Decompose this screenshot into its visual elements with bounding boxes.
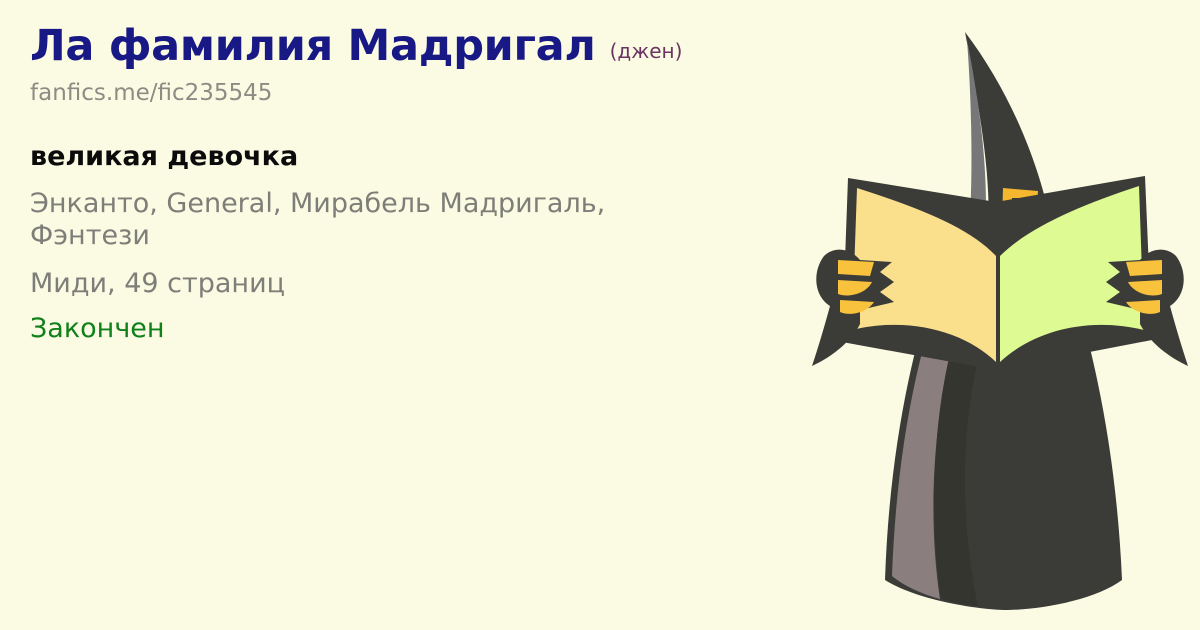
wizard-illustration-svg <box>800 10 1200 620</box>
fic-tags: Энканто, General, Мирабель Мадригаль, Фэ… <box>30 188 630 252</box>
book-spine <box>996 254 1000 364</box>
title-row: Ла фамилия Мадригал (джен) <box>30 24 820 69</box>
finger-right-1 <box>1126 260 1162 276</box>
fic-subtitle: великая девочка <box>30 141 820 172</box>
fic-size: Миди, 49 страниц <box>30 268 820 300</box>
status-badge: Закончен <box>30 313 820 345</box>
robe-group <box>885 340 1122 610</box>
fanfic-preview-card: Ла фамилия Мадригал (джен) fanfics.me/fi… <box>0 0 1200 630</box>
finger-left-1 <box>838 260 874 276</box>
open-book <box>842 176 1152 370</box>
text-column: Ла фамилия Мадригал (джен) fanfics.me/fi… <box>30 24 820 345</box>
wizard-reading-book-illustration <box>800 10 1200 620</box>
fic-category-label: (джен) <box>610 39 683 63</box>
page-title: Ла фамилия Мадригал <box>30 24 596 69</box>
fic-url[interactable]: fanfics.me/fic235545 <box>30 81 820 106</box>
